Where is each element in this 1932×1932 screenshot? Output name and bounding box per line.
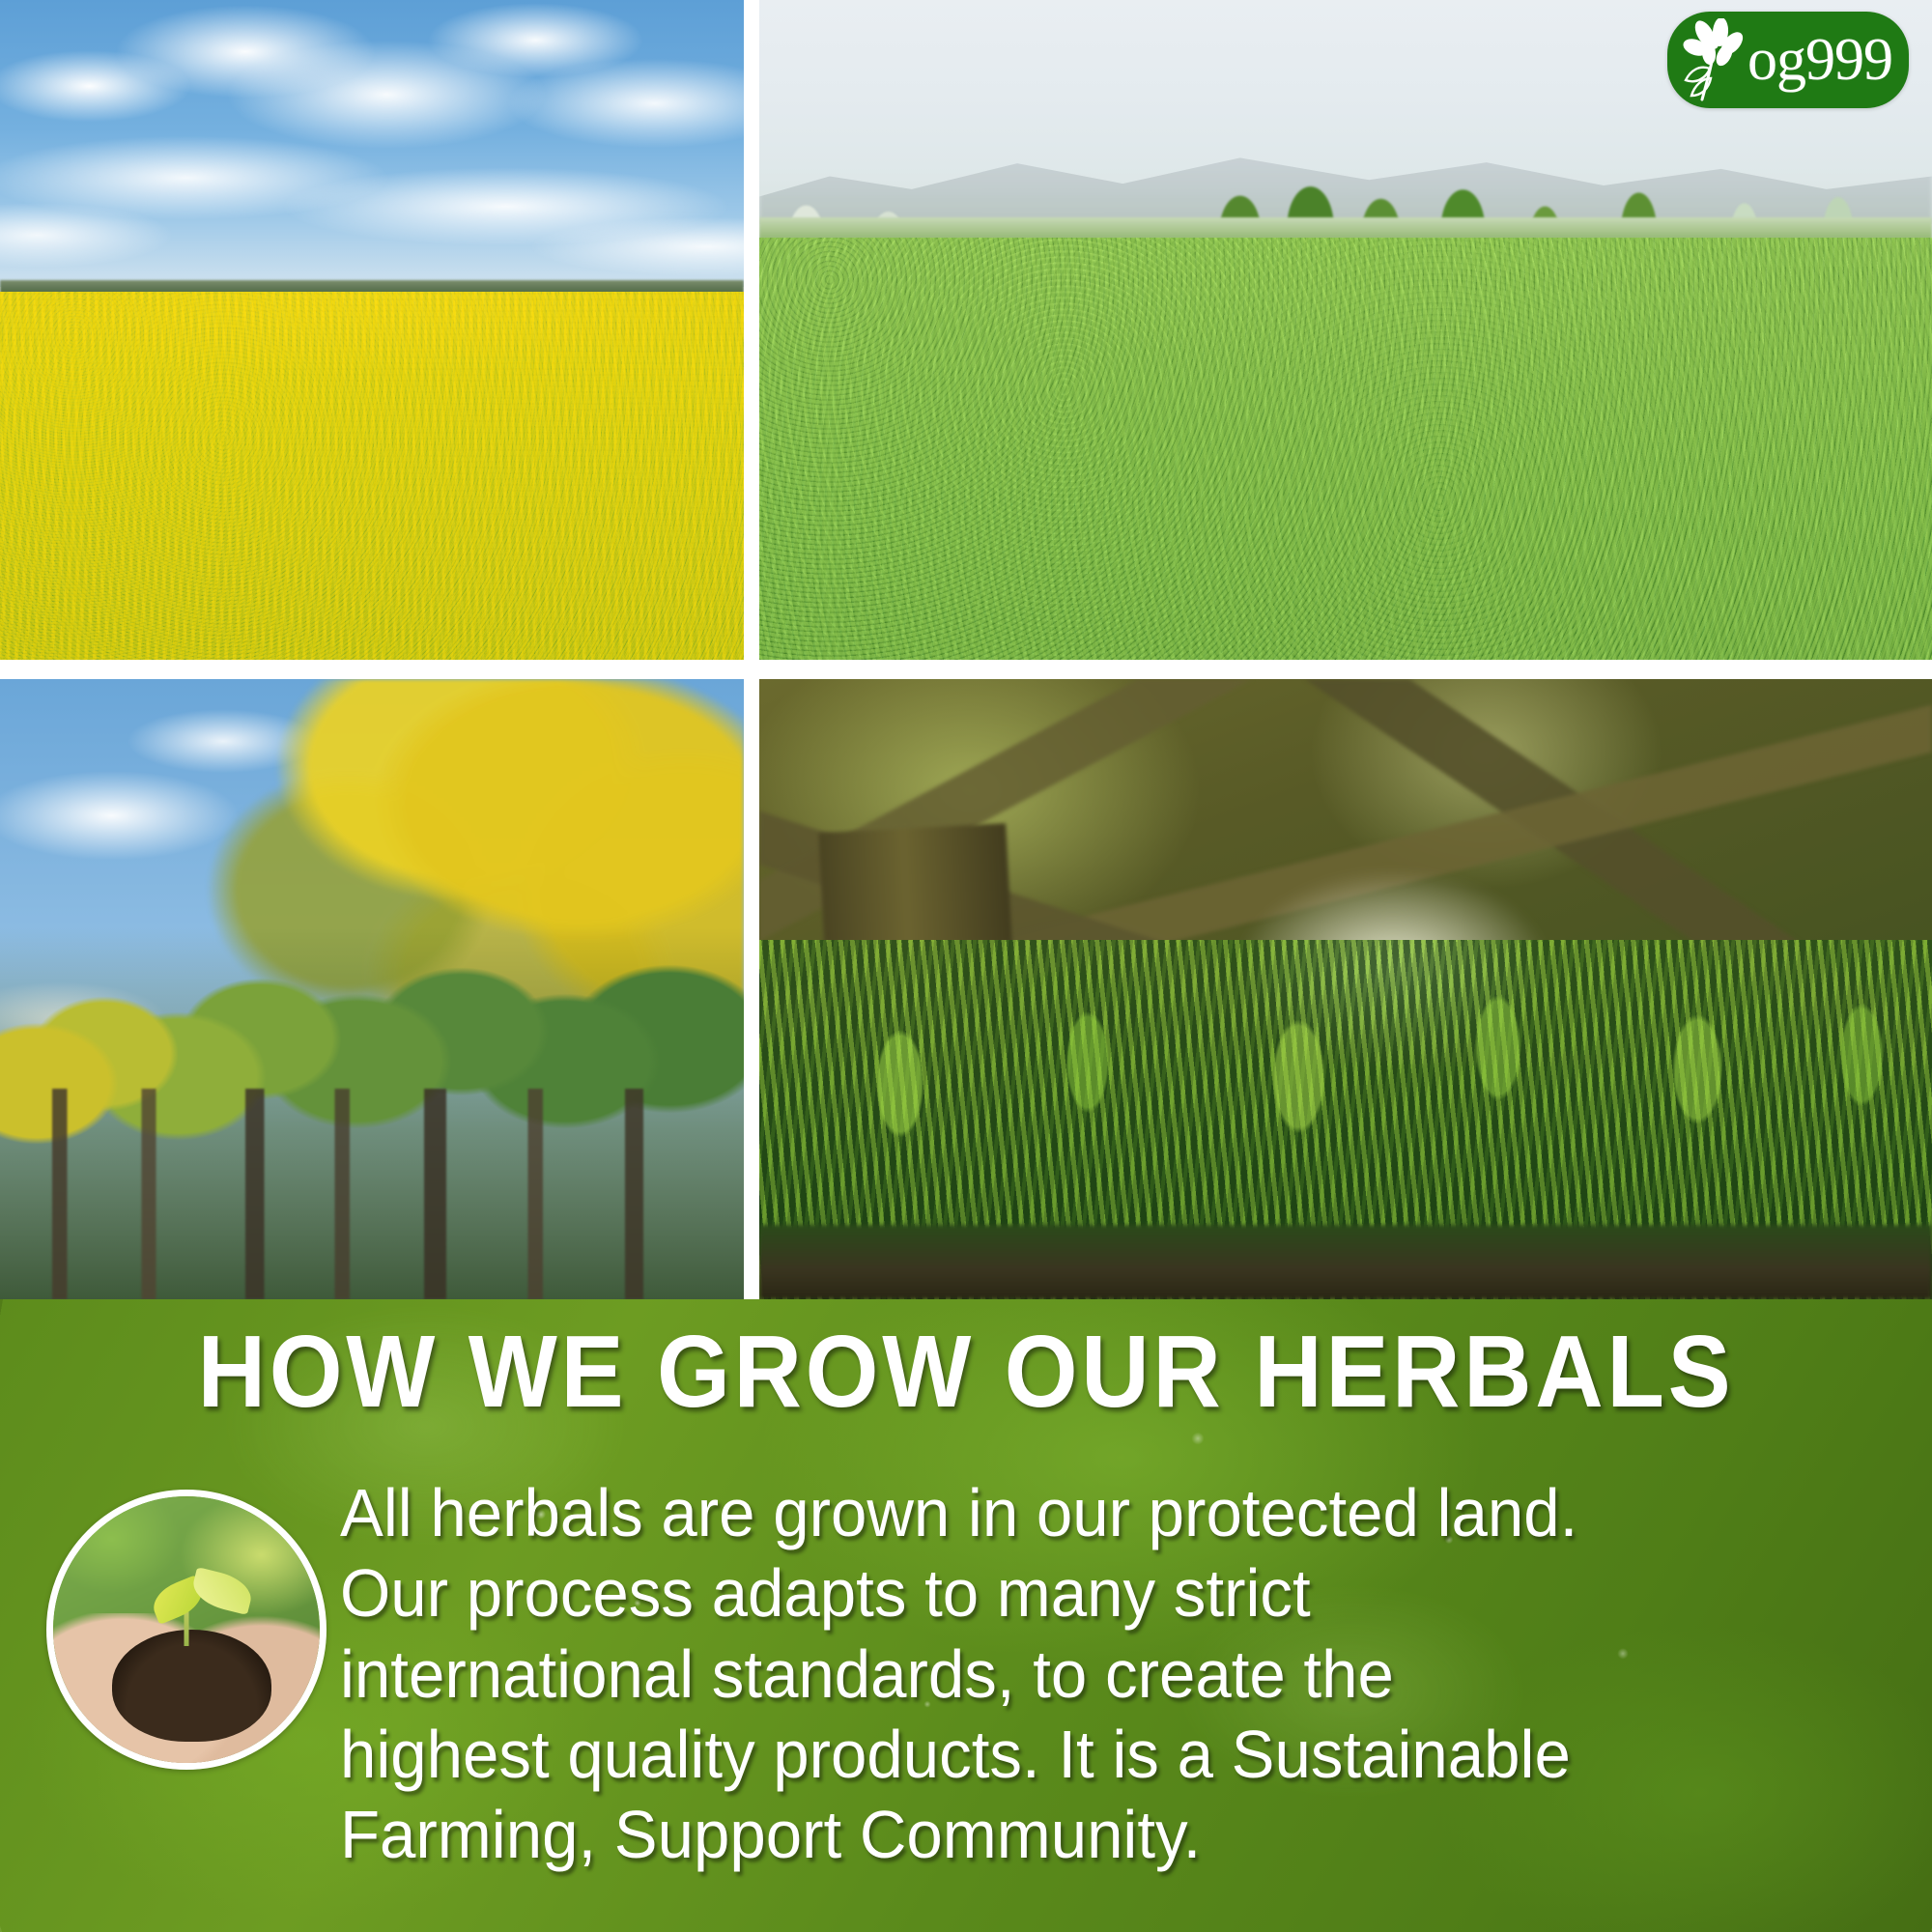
- crop-field-layer: [759, 238, 1932, 660]
- logo-inner: og999: [1676, 18, 1892, 101]
- flower-icon: [1676, 18, 1751, 101]
- body-line: Our process adapts to many strict: [340, 1553, 1842, 1634]
- body-line: international standards, to create the: [340, 1634, 1842, 1715]
- panel-body-text: All herbals are grown in our protected l…: [340, 1473, 1842, 1875]
- yellow-canola-field-photo: [0, 0, 744, 660]
- canola-photo-layers: [0, 0, 744, 660]
- panel-title: HOW WE GROW OUR HERBALS: [77, 1319, 1855, 1426]
- logo-wordmark: og999: [1747, 30, 1892, 90]
- canola-field-layer: [0, 292, 744, 660]
- sky-layer: [0, 0, 744, 287]
- soil-layer: [112, 1630, 272, 1742]
- body-line: All herbals are grown in our protected l…: [340, 1473, 1842, 1553]
- body-line: highest quality products. It is a Sustai…: [340, 1715, 1842, 1795]
- forest-layers: [759, 679, 1932, 1299]
- forest-floor-layer: [759, 1225, 1932, 1299]
- flowering-trees-layers: [0, 679, 744, 1299]
- body-line: Farming, Support Community.: [340, 1795, 1842, 1875]
- brand-logo[interactable]: og999: [1667, 12, 1909, 108]
- mossy-tree-ferns-photo: [759, 679, 1932, 1299]
- hands-holding-seedling-photo: [46, 1490, 327, 1770]
- yellow-flowering-trees-photo: [0, 679, 744, 1299]
- poster-root: og999 HOW WE GROW OUR HERBALS All herbal…: [0, 0, 1932, 1932]
- photo-grid: [0, 0, 1932, 1299]
- trunks-layer: [0, 1089, 744, 1299]
